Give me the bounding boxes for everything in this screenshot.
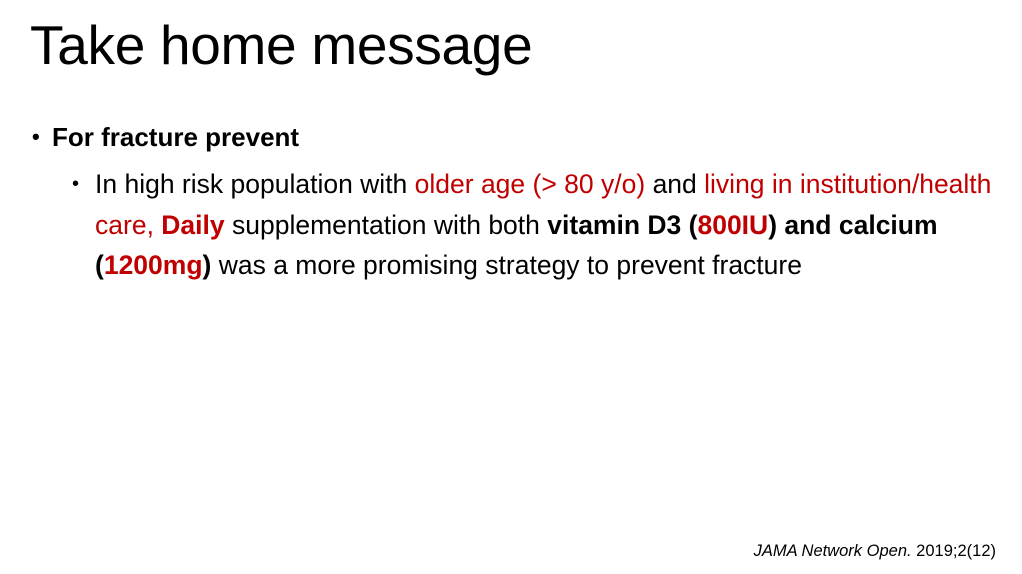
- bullet-marker-level1: •: [32, 118, 40, 156]
- run-dose-1200mg: 1200mg: [104, 250, 203, 280]
- run-supplementation: supplementation with both: [225, 210, 548, 240]
- run-vitamin-d3-open: vitamin D3 (: [547, 210, 697, 240]
- run-daily: Daily: [161, 210, 224, 240]
- slide-canvas: Take home message • For fracture prevent…: [0, 0, 1022, 574]
- bullet-marker-level2: •: [72, 164, 79, 205]
- bullet-level2: •In high risk population with older age …: [72, 164, 1005, 286]
- citation-journal: JAMA Network Open.: [754, 542, 912, 560]
- run-intro: In high risk population with: [95, 169, 415, 199]
- bullet-level1: • For fracture prevent: [30, 118, 1005, 156]
- run-comma: ,: [147, 210, 162, 240]
- run-outro: was a more promising strategy to prevent…: [211, 250, 802, 280]
- run-and: and: [645, 169, 704, 199]
- slide-body: • For fracture prevent •In high risk pop…: [30, 118, 1005, 286]
- citation-reference: 2019;2(12): [912, 542, 996, 560]
- run-older-age: older age (> 80 y/o): [415, 169, 646, 199]
- page-title: Take home message: [30, 12, 990, 78]
- citation: JAMA Network Open. 2019;2(12): [754, 540, 996, 562]
- run-dose-800iu: 800IU: [697, 210, 768, 240]
- bullet-level1-label: For fracture prevent: [52, 122, 299, 152]
